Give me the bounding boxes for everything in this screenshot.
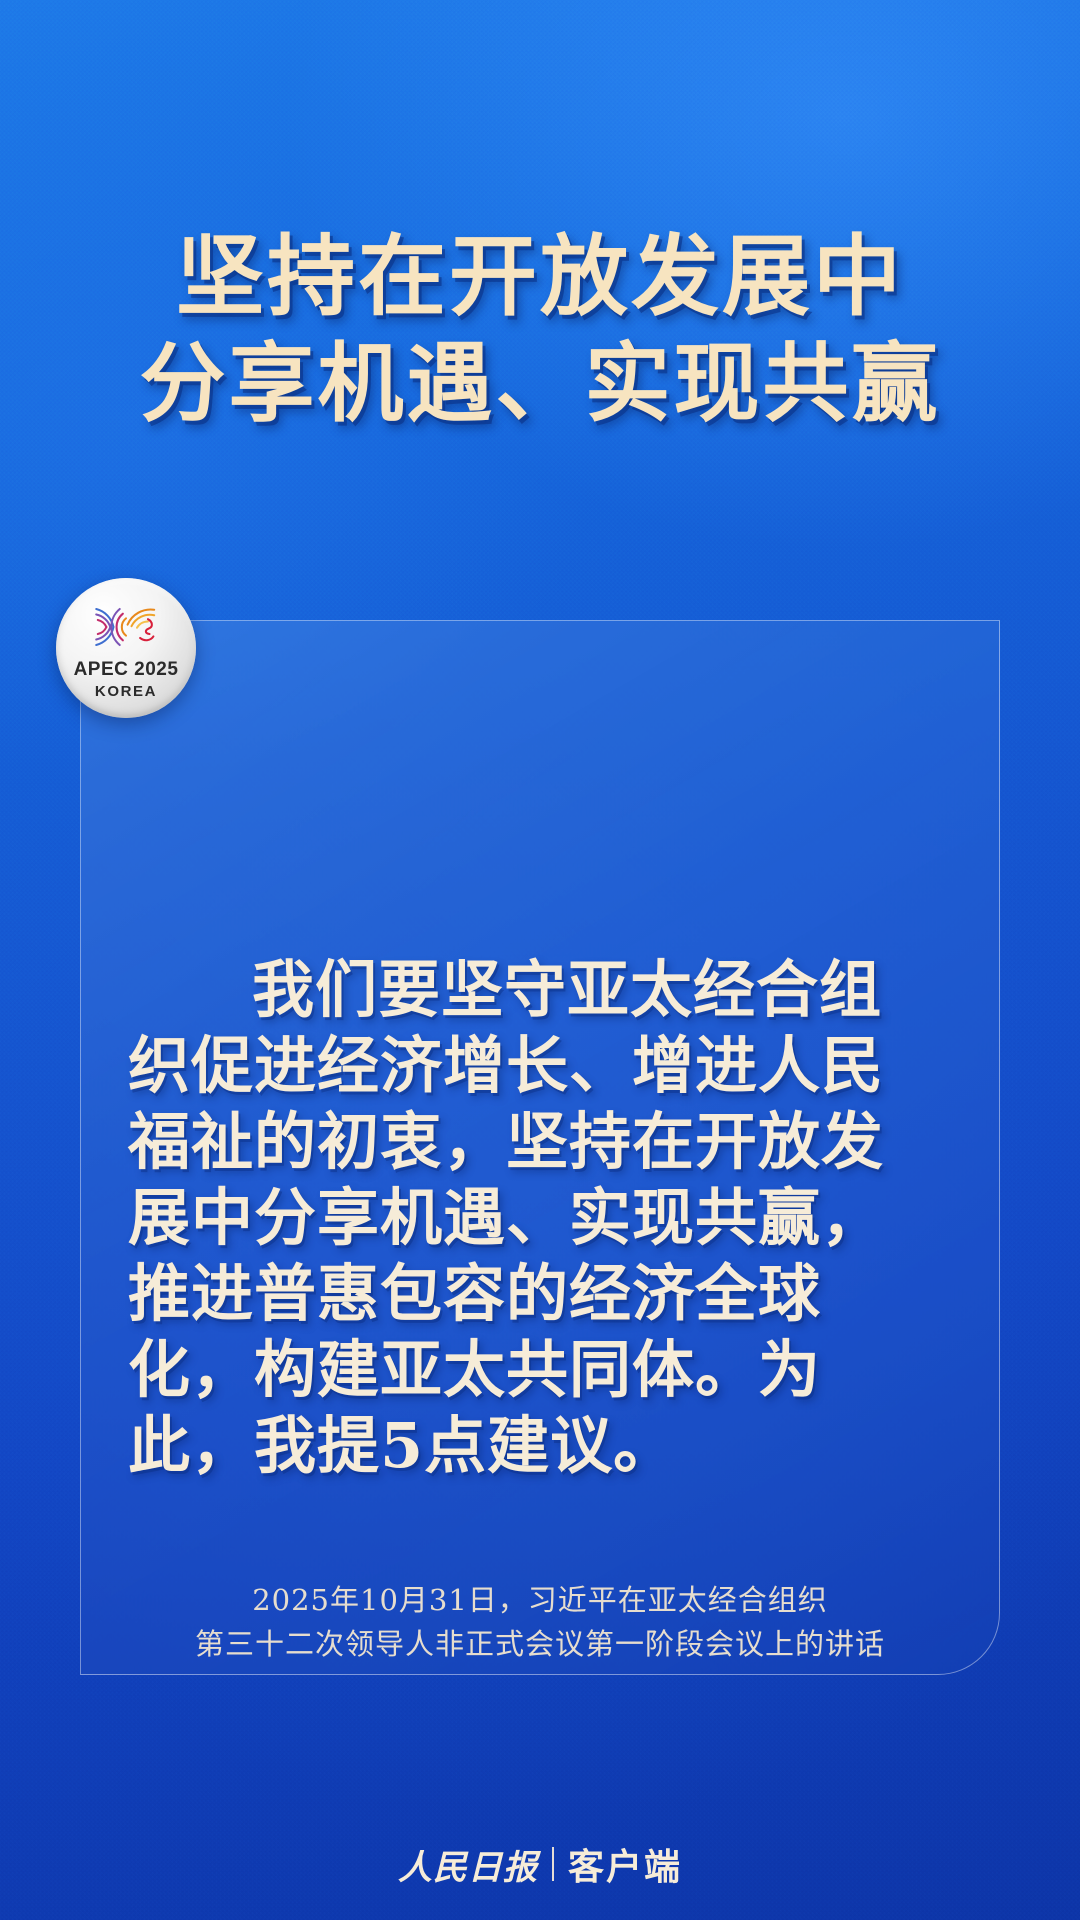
poster-canvas: 坚持在开放发展中 分享机遇、实现共赢	[0, 0, 1080, 1920]
footer-divider	[552, 1847, 554, 1881]
title-line-2: 分享机遇、实现共赢	[0, 330, 1080, 438]
attribution-line-2: 第三十二次领导人非正式会议第一阶段会议上的讲话	[80, 1622, 1000, 1666]
attribution: 2025年10月31日，习近平在亚太经合组织 第三十二次领导人非正式会议第一阶段…	[80, 1578, 1000, 1666]
footer-brand-name: 人民日报	[398, 1840, 538, 1889]
attribution-line-1: 2025年10月31日，习近平在亚太经合组织	[80, 1578, 1000, 1622]
footer-app-name: 客户端	[568, 1838, 682, 1890]
apec-emblem-icon	[79, 601, 173, 653]
footer-logo: 人民日报 客户端	[0, 1838, 1080, 1890]
poster-title: 坚持在开放发展中 分享机遇、实现共赢	[0, 222, 1080, 438]
title-line-1: 坚持在开放发展中	[0, 222, 1080, 330]
apec-logo-line-1: APEC 2025	[74, 660, 179, 679]
quote-text: 我们要坚守亚太经合组织促进经济增长、增进人民福祉的初衷，坚持在开放发展中分享机遇…	[128, 952, 888, 1484]
apec-korea-logo: APEC 2025 KOREA	[56, 578, 196, 718]
apec-logo-line-2: KOREA	[95, 684, 157, 699]
